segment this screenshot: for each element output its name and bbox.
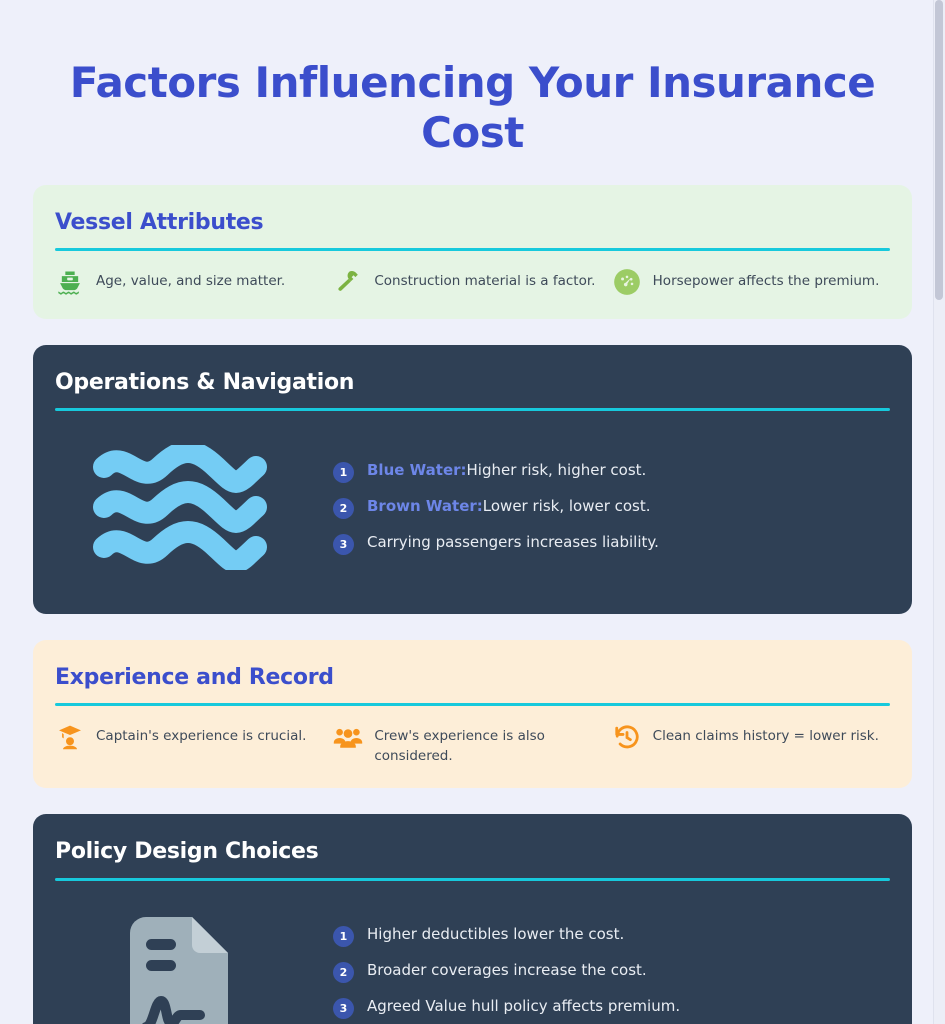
list-item-number: 2 bbox=[333, 962, 354, 983]
list-item: Construction material is a factor. bbox=[333, 267, 611, 297]
list-item-label: Blue Water:Higher risk, higher cost. bbox=[367, 460, 646, 480]
section-items: Captain's experience is crucial. Crew's … bbox=[55, 722, 890, 766]
ship-icon bbox=[55, 267, 85, 297]
section-title: Operations & Navigation bbox=[55, 371, 890, 408]
contract-icon bbox=[55, 915, 305, 1024]
list-item-number: 1 bbox=[333, 462, 354, 483]
list-item-detail: Higher risk, higher cost. bbox=[467, 461, 647, 479]
list-item-lead: Blue Water: bbox=[367, 461, 467, 479]
section-vessel-attributes: Vessel Attributes Age, value, and size m… bbox=[33, 185, 912, 319]
page-title: Factors Influencing Your Insurance Cost bbox=[33, 0, 912, 159]
list-item-number: 3 bbox=[333, 998, 354, 1019]
list-item: 3 Carrying passengers increases liabilit… bbox=[333, 526, 890, 562]
section-body: 1 Higher deductibles lower the cost. 2 B… bbox=[55, 897, 890, 1024]
section-items: 1 Blue Water:Higher risk, higher cost. 2… bbox=[333, 454, 890, 562]
list-item: Age, value, and size matter. bbox=[55, 267, 333, 297]
people-icon bbox=[333, 722, 363, 752]
section-divider bbox=[55, 248, 890, 251]
list-item-label: Clean claims history = lower risk. bbox=[653, 722, 879, 747]
list-item-label: Agreed Value hull policy affects premium… bbox=[367, 996, 680, 1016]
list-item-label: Captain's experience is crucial. bbox=[96, 722, 306, 747]
waves-icon bbox=[55, 445, 305, 570]
list-item: Captain's experience is crucial. bbox=[55, 722, 333, 752]
list-item: 2 Brown Water:Lower risk, lower cost. bbox=[333, 490, 890, 526]
list-item-number: 2 bbox=[333, 498, 354, 519]
list-item-label: Age, value, and size matter. bbox=[96, 267, 285, 292]
list-item: 1 Blue Water:Higher risk, higher cost. bbox=[333, 454, 890, 490]
section-operations-navigation: Operations & Navigation 1 Blue Water:Hig… bbox=[33, 345, 912, 614]
section-policy-design-choices: Policy Design Choices 1 Higher deductibl… bbox=[33, 814, 912, 1024]
section-title: Policy Design Choices bbox=[55, 840, 890, 877]
list-item-number: 3 bbox=[333, 534, 354, 555]
list-item-label: Brown Water:Lower risk, lower cost. bbox=[367, 496, 651, 516]
section-title: Experience and Record bbox=[55, 666, 890, 703]
list-item-detail: Lower risk, lower cost. bbox=[483, 497, 651, 515]
history-icon bbox=[612, 722, 642, 752]
list-item-label: Horsepower affects the premium. bbox=[653, 267, 880, 292]
list-item: 1 Higher deductibles lower the cost. bbox=[333, 918, 890, 954]
gauge-icon bbox=[612, 267, 642, 297]
list-item: 2 Broader coverages increase the cost. bbox=[333, 954, 890, 990]
section-items: 1 Higher deductibles lower the cost. 2 B… bbox=[333, 918, 890, 1024]
section-body: 1 Blue Water:Higher risk, higher cost. 2… bbox=[55, 427, 890, 592]
page-scrollbar-thumb[interactable] bbox=[935, 0, 943, 300]
list-item: Horsepower affects the premium. bbox=[612, 267, 890, 297]
list-item-label: Carrying passengers increases liability. bbox=[367, 532, 659, 552]
section-divider bbox=[55, 408, 890, 411]
infographic-page: Factors Influencing Your Insurance Cost … bbox=[0, 0, 945, 1024]
section-divider bbox=[55, 703, 890, 706]
list-item: Clean claims history = lower risk. bbox=[612, 722, 890, 752]
graduate-icon bbox=[55, 722, 85, 752]
page-scrollbar[interactable] bbox=[933, 0, 945, 1024]
section-items: Age, value, and size matter. Constructio… bbox=[55, 267, 890, 297]
list-item-number: 1 bbox=[333, 926, 354, 947]
list-item-label: Higher deductibles lower the cost. bbox=[367, 924, 624, 944]
list-item-lead: Brown Water: bbox=[367, 497, 483, 515]
hammer-icon bbox=[333, 267, 363, 297]
list-item-label: Crew's experience is also considered. bbox=[374, 722, 601, 766]
list-item-label: Construction material is a factor. bbox=[374, 267, 595, 292]
section-divider bbox=[55, 878, 890, 881]
list-item: Crew's experience is also considered. bbox=[333, 722, 611, 766]
section-title: Vessel Attributes bbox=[55, 211, 890, 248]
section-experience-record: Experience and Record Captain's experien… bbox=[33, 640, 912, 788]
list-item-label: Broader coverages increase the cost. bbox=[367, 960, 647, 980]
list-item-detail: Carrying passengers increases liability. bbox=[367, 533, 659, 551]
list-item: 3 Agreed Value hull policy affects premi… bbox=[333, 990, 890, 1024]
